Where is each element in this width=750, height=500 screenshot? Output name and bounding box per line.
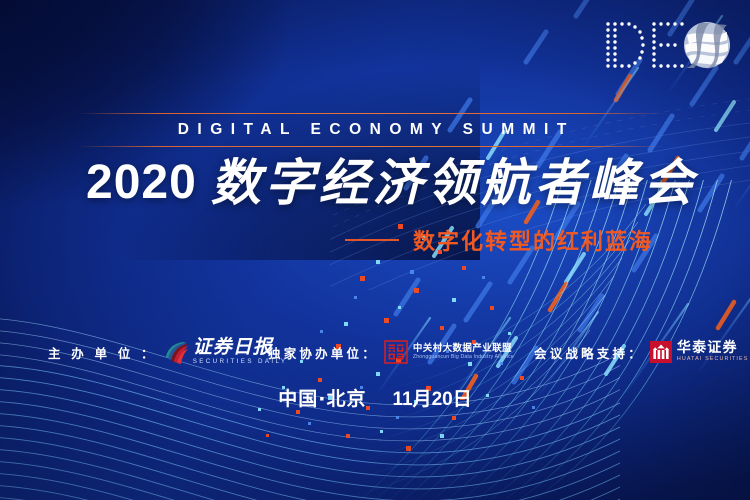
venue-date-row: 中国·北京 11月20日 [0, 384, 750, 411]
venue-place: 中国·北京 [278, 384, 366, 411]
eyebrow-band: DIGITAL ECONOMY SUMMIT [78, 113, 666, 147]
alliance-name-cn: 中关村大数据产业联盟 [413, 344, 514, 354]
subtitle-dash [345, 239, 399, 241]
sponsor-row: 主 办 单 位 ： 证券日报 SECURITIES DAILY 独家协办单位： [0, 332, 750, 372]
huatai-name-en: HUATAI SECURITIES [677, 357, 749, 363]
eyebrow-rule-bottom [78, 146, 666, 147]
securities-daily-swirl-icon [163, 339, 189, 365]
des-logo [604, 18, 734, 74]
sponsor-co-organizer: 独家协办单位： 中关村大数据产业联盟 [268, 340, 514, 364]
sponsor-strategic-support-label: 会议战略支持： [534, 343, 644, 362]
sponsor-host: 主 办 单 位 ： 证券日报 SECURITIES DAILY [48, 338, 287, 366]
huatai-securities-logo: 华泰证券 HUATAI SECURITIES [650, 341, 749, 363]
venue-date: 11月20日 [392, 384, 471, 411]
eyebrow-text: DIGITAL ECONOMY SUMMIT [78, 113, 666, 147]
alliance-name-en: Zhongguancun Big Data Industry Alliance [413, 355, 514, 361]
sponsor-host-label: 主 办 单 位 ： [48, 343, 157, 362]
subtitle-text: 数字化转型的红利蓝海 [413, 224, 653, 256]
title-year: 2020 [86, 159, 197, 207]
zhongguancun-bigdata-alliance-logo: 中关村大数据产业联盟 Zhongguancun Big Data Industr… [384, 340, 514, 364]
event-poster: DIGITAL ECONOMY SUMMIT 2020 数字经济领航者峰会 数字… [0, 0, 750, 500]
sponsor-strategic-support: 会议战略支持： 华泰证券 HUATAI SE [534, 341, 748, 363]
sponsor-co-organizer-label: 独家协办单位： [268, 343, 378, 362]
alliance-seal-icon [384, 340, 408, 364]
huatai-name-cn: 华泰证券 [677, 341, 749, 356]
huatai-emblem-icon [650, 341, 672, 363]
title-chinese: 数字经济领航者峰会 [211, 158, 697, 208]
globe-swirl-icon [684, 22, 730, 69]
subtitle: 数字化转型的红利蓝海 [345, 226, 653, 254]
page-title: 2020 数字经济领航者峰会 [86, 152, 686, 214]
